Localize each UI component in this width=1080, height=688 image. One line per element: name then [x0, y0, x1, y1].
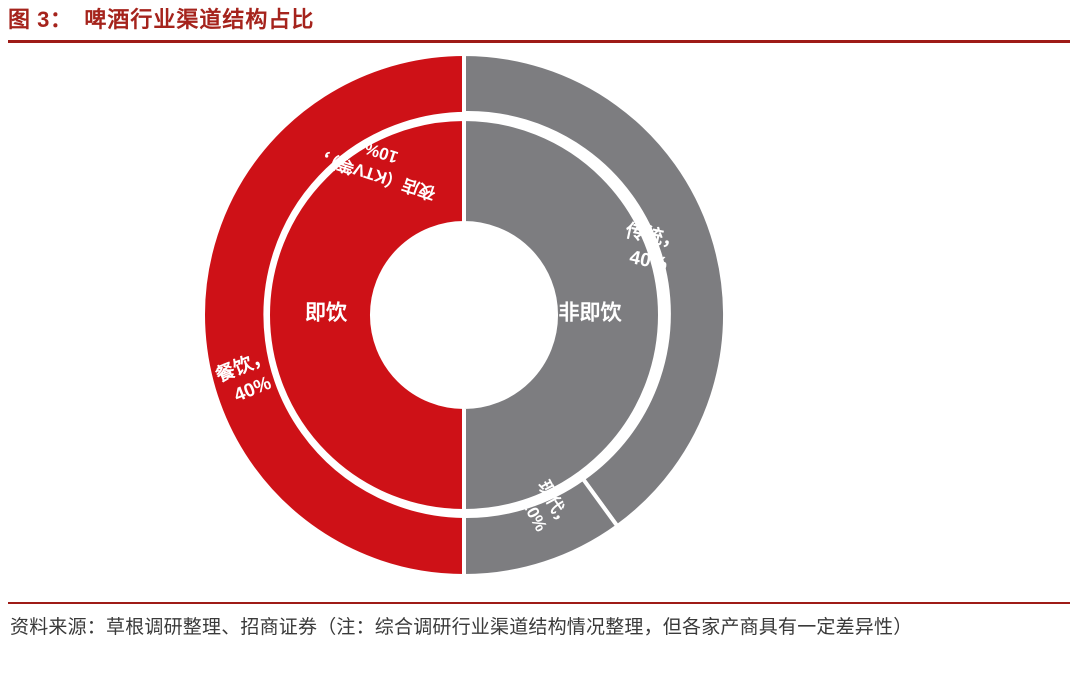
chart-canvas: 夜店（KTV等）， 10% 餐饮， 40% 传统， 40% 现代， 10% 即饮… [0, 46, 1080, 594]
figure-title-row: 图 3： 啤酒行业渠道结构占比 [8, 6, 1068, 40]
figure-page: 图 3： 啤酒行业渠道结构占比 夜店（KTV等）， [0, 0, 1080, 688]
inner-label-off-premise: 非即饮 [559, 301, 623, 325]
title-divider [8, 40, 1070, 43]
nested-donut-chart: 夜店（KTV等）， 10% 餐饮， 40% 传统， 40% 现代， 10% 即饮… [0, 46, 1080, 594]
footer-divider [8, 602, 1070, 604]
figure-number: 图 3： [8, 6, 72, 34]
page-title: 啤酒行业渠道结构占比 [84, 6, 314, 34]
inner-label-on-premise: 即饮 [305, 301, 348, 325]
source-note: 资料来源：草根调研整理、招商证券（注：综合调研行业渠道结构情况整理，但各家产商具… [10, 612, 1055, 643]
